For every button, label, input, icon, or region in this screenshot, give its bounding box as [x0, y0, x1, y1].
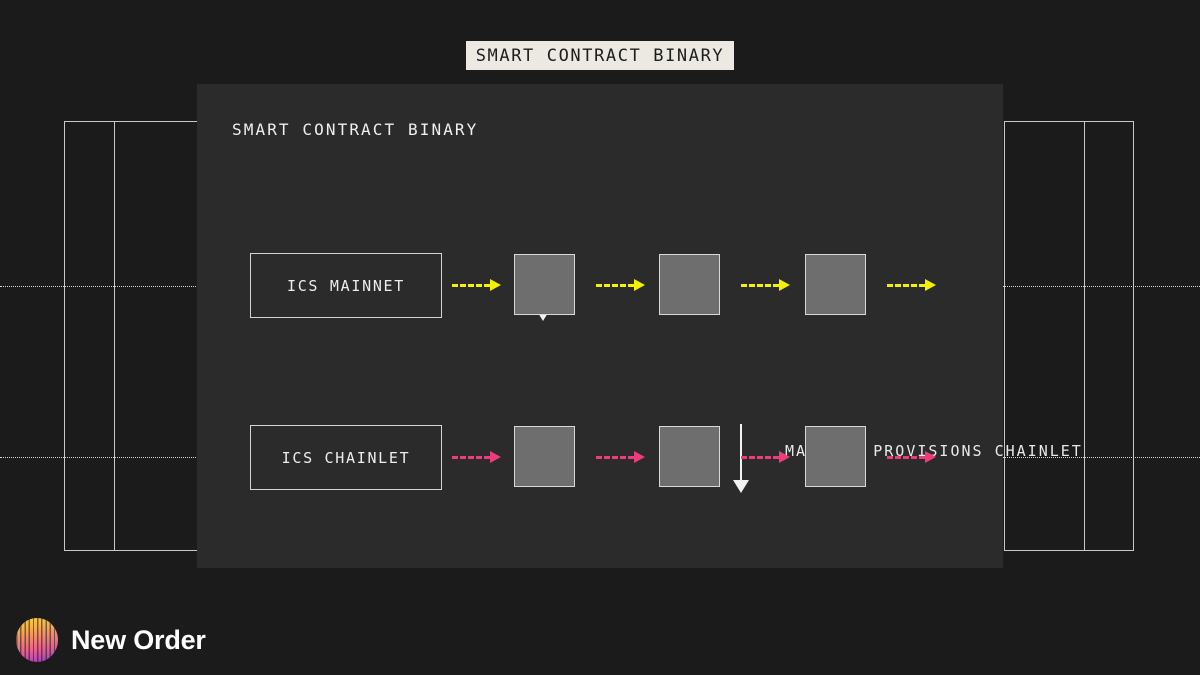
arrow-head — [925, 279, 936, 291]
arrow-line — [452, 456, 490, 459]
flow-arrow-chainlet-3 — [741, 451, 790, 463]
logo-stripes — [16, 618, 58, 662]
arrow-line — [741, 456, 779, 459]
node-box-ics-mainnet[interactable]: ICS MAINNET — [250, 253, 442, 318]
block-chainlet-3 — [805, 426, 866, 487]
flow-arrow-mainnet-2 — [596, 279, 645, 291]
block-mainnet-2 — [659, 254, 720, 315]
slide-canvas: SMART CONTRACT BINARY SMART CONTRACT BIN… — [0, 0, 1200, 675]
block-mainnet-3 — [805, 254, 866, 315]
new-order-logo-icon — [16, 618, 58, 662]
arrow-line — [452, 284, 490, 287]
arrow-head — [925, 451, 936, 463]
arrow-head — [634, 279, 645, 291]
arrow-line — [596, 284, 634, 287]
node-box-ics-chainlet[interactable]: ICS CHAINLET — [250, 425, 442, 490]
flow-arrow-mainnet-3 — [741, 279, 790, 291]
brand-name: New Order — [71, 625, 206, 656]
arrow-head — [634, 451, 645, 463]
flow-arrow-mainnet-1 — [452, 279, 501, 291]
arrow-line — [596, 456, 634, 459]
arrow-head — [779, 279, 790, 291]
slide-title-banner: SMART CONTRACT BINARY — [466, 41, 734, 70]
flow-arrow-chainlet-1 — [452, 451, 501, 463]
arrow-head — [779, 451, 790, 463]
arrow-line — [887, 284, 925, 287]
background-guide-vline-right — [1084, 121, 1085, 551]
arrow-head — [490, 279, 501, 291]
block-mainnet-1 — [514, 254, 575, 315]
block-chainlet-2 — [659, 426, 720, 487]
background-guide-rect-right — [1004, 121, 1134, 551]
diagram-panel: SMART CONTRACT BINARY MAINNET PROVISIONS… — [197, 84, 1003, 568]
arrow-head — [490, 451, 501, 463]
background-guide-vline-left — [114, 121, 115, 551]
arrow-line — [887, 456, 925, 459]
flow-arrow-chainlet-4 — [887, 451, 936, 463]
arrow-head — [733, 480, 749, 493]
flow-arrow-chainlet-2 — [596, 451, 645, 463]
block-chainlet-1 — [514, 426, 575, 487]
arrow-line — [741, 284, 779, 287]
flow-arrow-mainnet-4 — [887, 279, 936, 291]
brand-footer: New Order — [16, 618, 206, 662]
panel-heading: SMART CONTRACT BINARY — [232, 120, 478, 139]
